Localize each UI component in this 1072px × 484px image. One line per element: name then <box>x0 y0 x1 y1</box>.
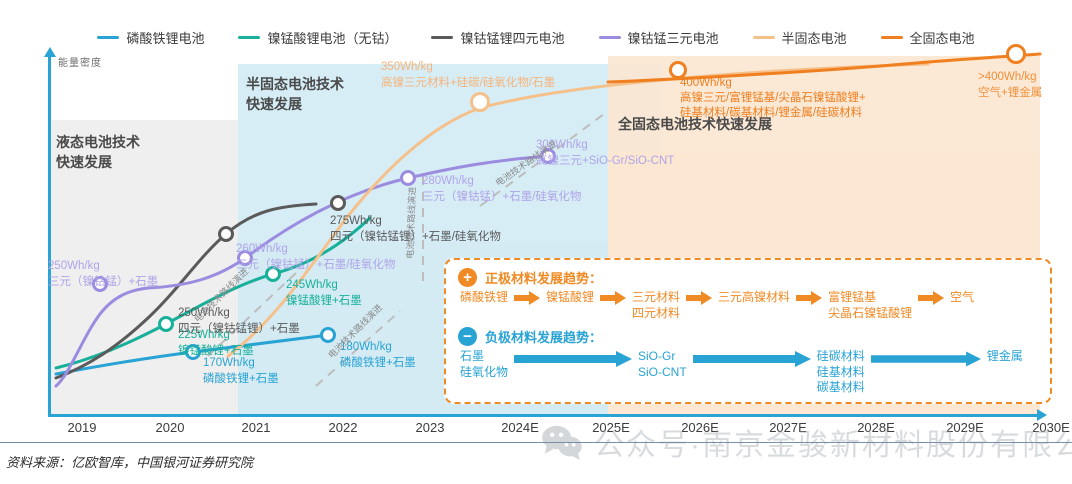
x-tick-2020: 2020 <box>156 420 185 435</box>
legend-swatch-2 <box>431 36 453 39</box>
point-label-ncm-260: 260Wh/kg三元（镍钴锰）+石墨/硅氧化物 <box>236 242 395 273</box>
arrow-right-icon <box>686 291 712 305</box>
arrow-right-icon <box>514 291 540 305</box>
legend-swatch-1 <box>238 36 260 39</box>
long-arrow-right-icon <box>693 351 811 367</box>
marker-quad-250[interactable] <box>218 226 234 242</box>
anode-chain: 石墨 硅氧化物 SiO-Gr SiO-CNT 硅碳材料 硅基材料 碳基材料 锂金… <box>460 349 1040 396</box>
marker-quad-275[interactable] <box>330 195 346 211</box>
anode-step-1: SiO-Gr SiO-CNT <box>638 349 687 380</box>
material-trends-box: + 正极材料发展趋势： 磷酸铁锂 镍锰酸锂 三元材料 四元材料 三元高镍材料 富… <box>444 258 1052 404</box>
cathode-header: + 正极材料发展趋势： <box>458 268 1040 287</box>
marker-solid-400plus[interactable] <box>1006 44 1026 64</box>
legend-swatch-5 <box>881 36 903 39</box>
cathode-step-1: 镍锰酸锂 <box>546 290 594 306</box>
marker-lfp-180[interactable] <box>320 327 336 343</box>
cathode-title: 正极材料发展趋势： <box>485 268 602 287</box>
cathode-step-4: 富锂锰基 尖晶石镍锰酸锂 <box>828 290 912 321</box>
x-tick-2021: 2021 <box>242 420 271 435</box>
cathode-step-5: 空气 <box>950 290 974 306</box>
x-tick-2027E: 2027E <box>769 420 807 435</box>
legend-label-5: 全固态电池 <box>910 28 975 47</box>
arrow-right-icon <box>600 291 626 305</box>
point-label-ncm-250: 250Wh/kg三元（镍钴锰）+石墨 <box>48 259 158 290</box>
anode-title: 负极材料发展趋势： <box>485 327 602 346</box>
legend-item-1[interactable]: 镍锰酸锂电池（无钴） <box>238 28 397 47</box>
legend-label-2: 镍钴锰锂四元电池 <box>460 28 564 47</box>
plus-circle-icon: + <box>458 268 477 287</box>
legend-swatch-0 <box>97 36 119 39</box>
point-label-lnmo-245: 245Wh/kg镍锰酸锂+石墨 <box>286 278 362 309</box>
arrow-right-icon <box>796 291 822 305</box>
point-label-solid-400plus: >400Wh/kg空气+锂金属 <box>978 70 1042 101</box>
cathode-chain: 磷酸铁锂 镍锰酸锂 三元材料 四元材料 三元高镍材料 富锂锰基 尖晶石镍锰酸锂 … <box>460 290 1040 321</box>
annotation-evolution-3: 电池技术路线演进 <box>403 187 419 259</box>
x-tick-2024E: 2024E <box>501 420 539 435</box>
x-tick-2028E: 2028E <box>857 420 895 435</box>
marker-semi-350[interactable] <box>470 92 490 112</box>
x-tick-2023: 2023 <box>416 420 445 435</box>
anode-step-0: 石墨 硅氧化物 <box>460 349 508 380</box>
point-label-semi-350: 350Wh/kg高镍三元材料+硅碳/硅氧化物/石墨 <box>381 60 555 91</box>
legend-label-4: 半固态电池 <box>782 28 847 47</box>
legend-swatch-4 <box>753 36 775 39</box>
marker-lnmo-225[interactable] <box>158 316 174 332</box>
x-tick-2022: 2022 <box>329 420 358 435</box>
anode-step-2: 硅碳材料 硅基材料 碳基材料 <box>817 349 865 396</box>
point-label-ncm-300: 300Wh/kg高镍三元+SiO-Gr/SiO-CNT <box>536 138 674 169</box>
minus-circle-icon: − <box>458 327 477 346</box>
legend-label-3: 镍钴锰三元电池 <box>628 28 719 47</box>
x-tick-2019: 2019 <box>68 420 97 435</box>
marker-ncm-280[interactable] <box>400 170 416 186</box>
anode-step-3: 锂金属 <box>987 349 1023 365</box>
x-tick-2026E: 2026E <box>681 420 719 435</box>
x-tick-2030E: 2030E <box>1032 420 1070 435</box>
legend-item-2[interactable]: 镍钴锰锂四元电池 <box>431 28 564 47</box>
arrow-right-icon <box>918 291 944 305</box>
legend-item-3[interactable]: 镍钴锰三元电池 <box>599 28 719 47</box>
legend-item-4[interactable]: 半固态电池 <box>753 28 847 47</box>
cathode-step-3: 三元高镍材料 <box>718 290 790 306</box>
point-label-solid-400: 400Wh/kg高镍三元/富锂锰基/尖晶石镍锰酸锂+ 硅基材料/碳基材料/锂金属… <box>680 76 866 121</box>
anode-header: − 负极材料发展趋势： <box>458 327 1040 346</box>
x-axis-ticks: 2019 2020 2021 2022 2023 2024E 2025E 202… <box>48 420 1040 440</box>
legend-label-1: 镍锰酸锂电池（无钴） <box>267 28 397 47</box>
legend-item-5[interactable]: 全固态电池 <box>881 28 975 47</box>
x-tick-2025E: 2025E <box>592 420 630 435</box>
point-label-lfp-180: 180Wh/kg磷酸铁锂+石墨 <box>340 340 416 371</box>
cathode-step-0: 磷酸铁锂 <box>460 290 508 306</box>
source-note: 资料来源：亿欧智库，中国银河证券研究院 <box>6 452 253 471</box>
legend-label-0: 磷酸铁锂电池 <box>126 28 204 47</box>
legend-item-0[interactable]: 磷酸铁锂电池 <box>97 28 204 47</box>
point-label-lfp-170: 170Wh/kg磷酸铁锂+石墨 <box>203 356 279 387</box>
footer-divider <box>0 442 1072 443</box>
long-arrow-right-icon <box>514 351 632 367</box>
legend: 磷酸铁锂电池 镍锰酸锂电池（无钴） 镍钴锰锂四元电池 镍钴锰三元电池 半固态电池… <box>0 24 1072 50</box>
long-arrow-right-icon <box>871 351 981 367</box>
cathode-step-2: 三元材料 四元材料 <box>632 290 680 321</box>
x-tick-2029E: 2029E <box>946 420 984 435</box>
legend-swatch-3 <box>599 36 621 39</box>
